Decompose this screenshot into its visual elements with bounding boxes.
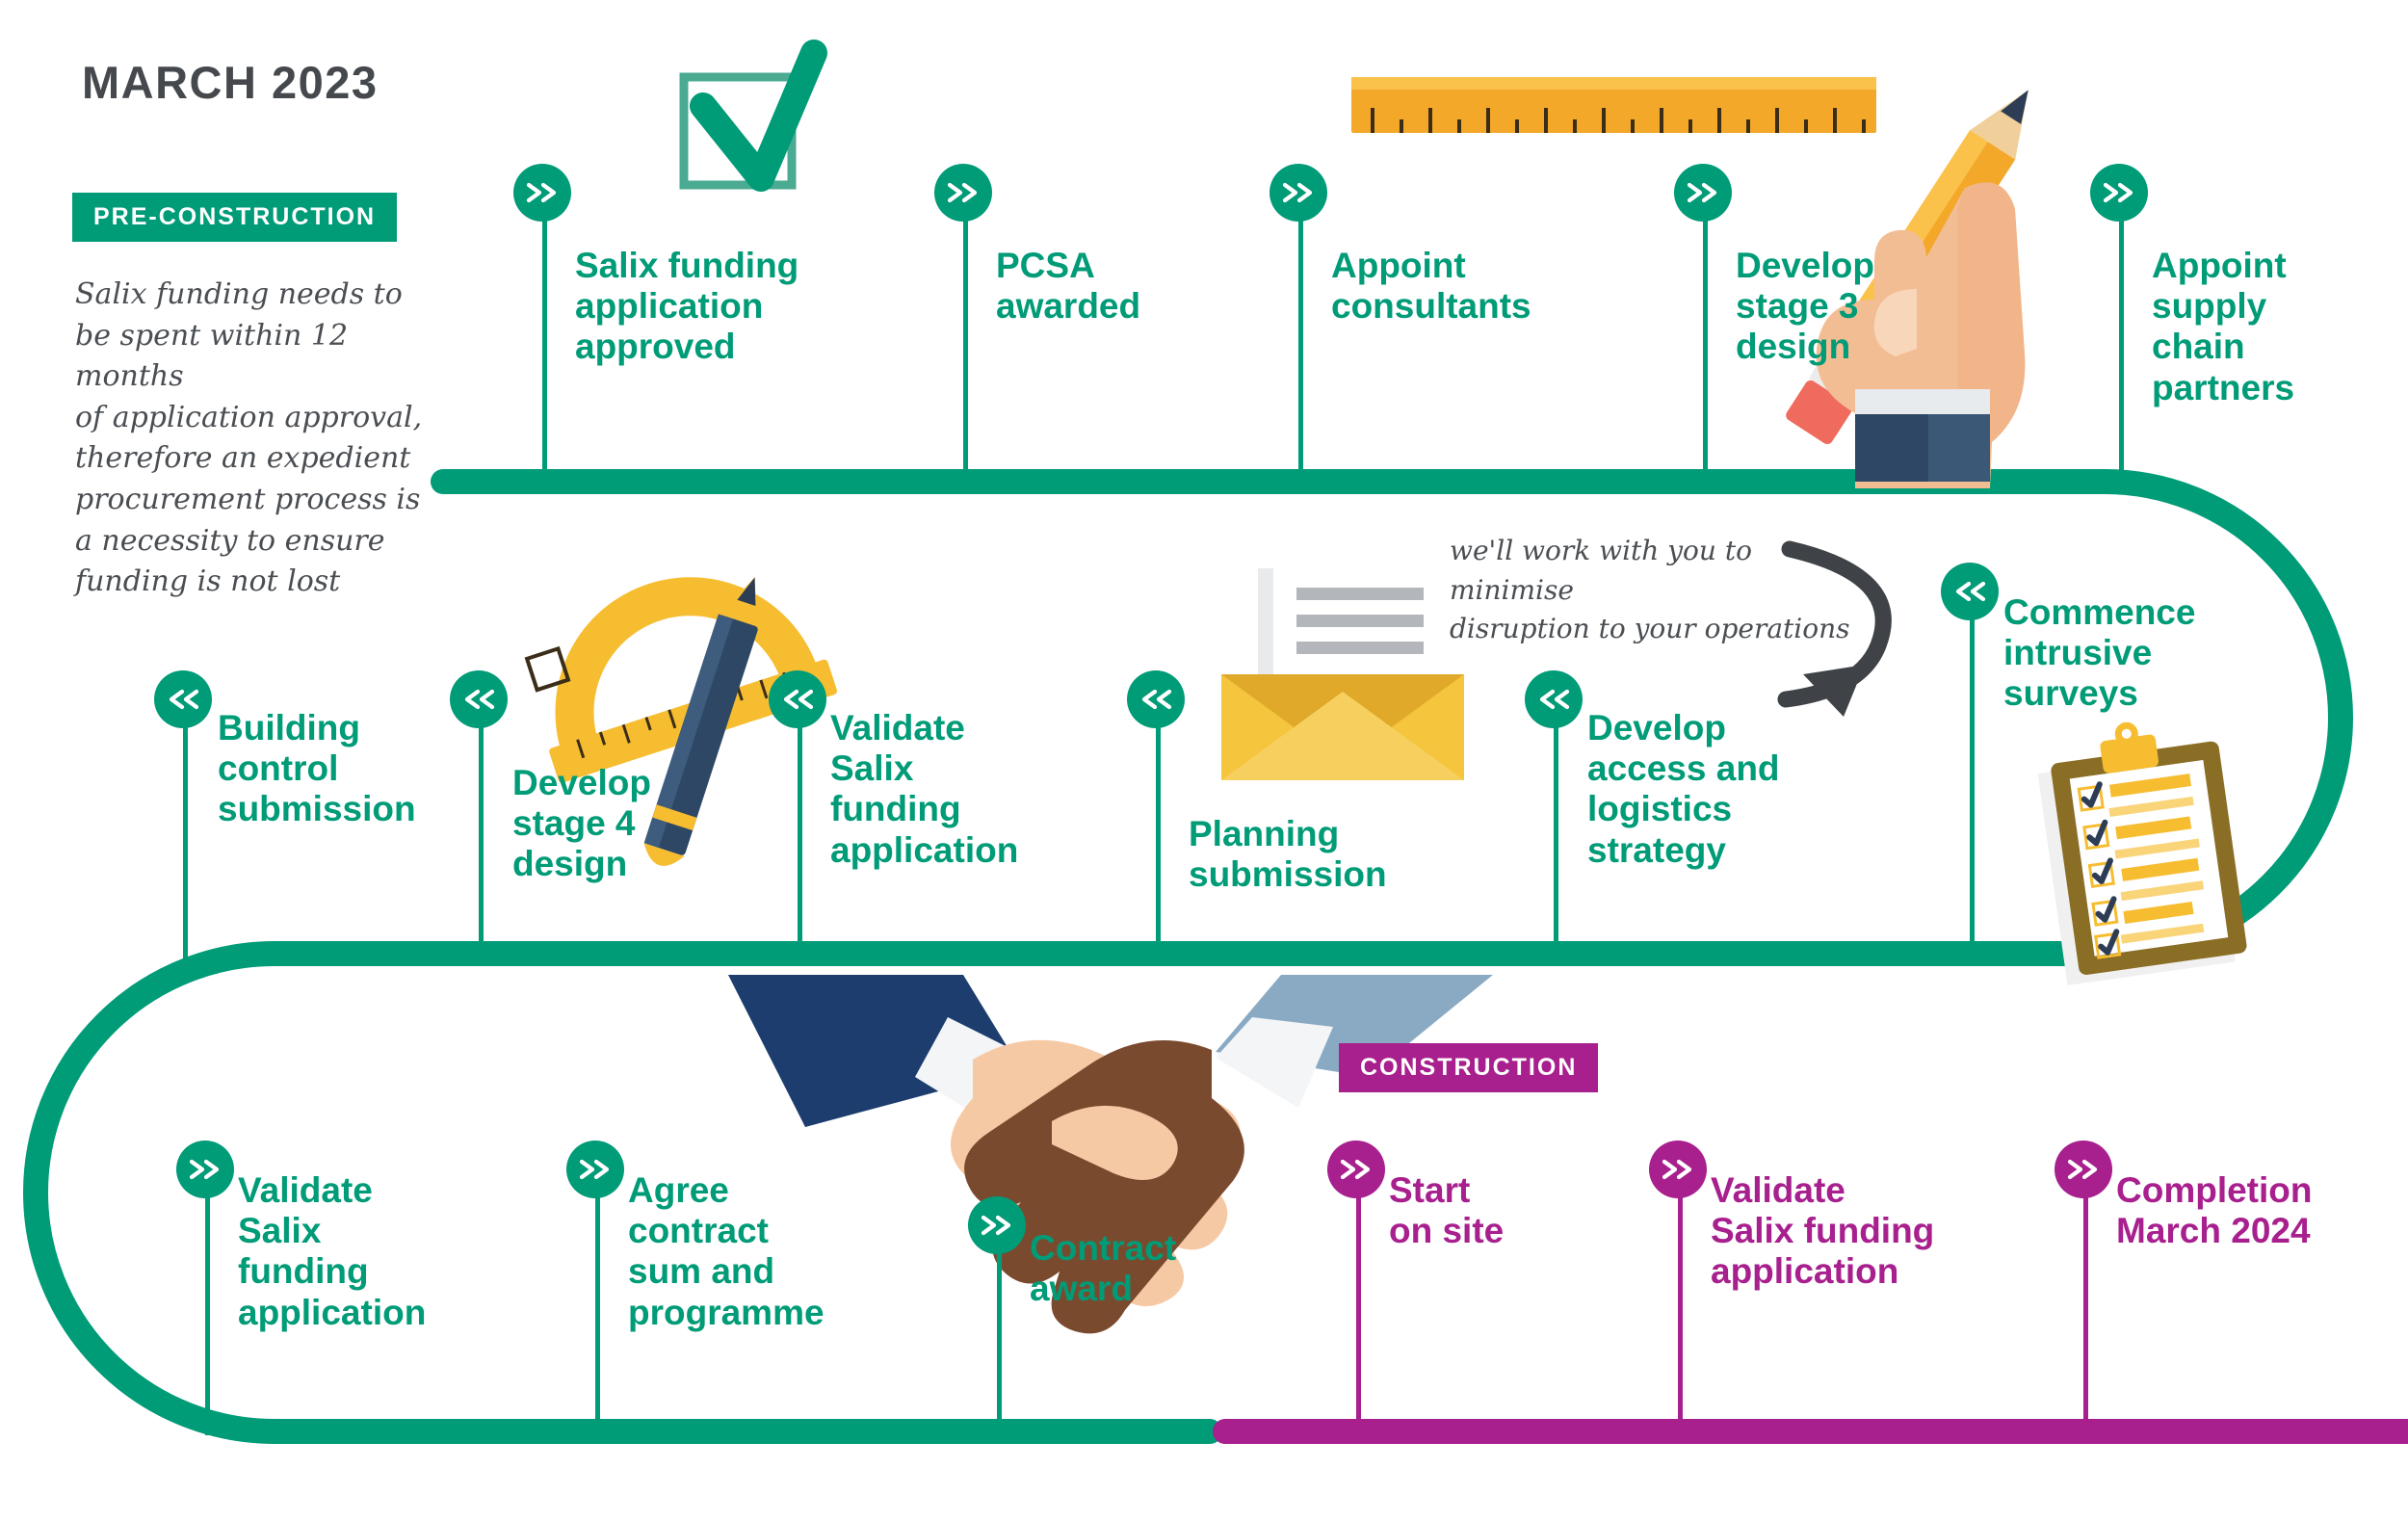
salix-funding-note: Salix funding needs to be spent within 1… <box>75 275 451 603</box>
label-m05: Appoint supply chain partners <box>2152 246 2393 408</box>
label-m01: Salix funding application approved <box>575 246 864 368</box>
label-m11: Building control submission <box>218 708 468 830</box>
phase-badge-construction: CONSTRUCTION <box>1339 1043 1598 1092</box>
timeline-text: MARCH 2023 PRE-CONSTRUCTION CONSTRUCTION… <box>0 0 2408 1521</box>
label-m08: Planning submission <box>1189 814 1458 895</box>
label-m03: Appoint consultants <box>1331 246 1639 327</box>
label-m02: PCSA awarded <box>996 246 1266 327</box>
label-m17: Completion March 2024 <box>2116 1170 2405 1251</box>
minimise-disruption-note: we'll work with you to minimise disrupti… <box>1450 532 1864 649</box>
label-m09: Validate Salix funding application <box>830 708 1090 871</box>
label-m07: Develop access and logistics strategy <box>1587 708 1857 871</box>
phase-badge-pre-construction: PRE-CONSTRUCTION <box>72 193 397 242</box>
page-title: MARCH 2023 <box>82 56 379 109</box>
label-m14: Contract award <box>1030 1228 1280 1309</box>
label-m16: Validate Salix funding application <box>1711 1170 2000 1293</box>
label-m13: Agree contract sum and programme <box>628 1170 878 1333</box>
label-m10: Develop stage 4 design <box>512 763 705 885</box>
label-m04: Develop stage 3 design <box>1736 246 1948 368</box>
label-m06: Commence intrusive surveys <box>2003 592 2273 715</box>
timeline-infographic: MARCH 2023 PRE-CONSTRUCTION CONSTRUCTION… <box>0 0 2408 1521</box>
label-m15: Start on site <box>1389 1170 1639 1251</box>
label-m12: Validate Salix funding application <box>238 1170 488 1333</box>
